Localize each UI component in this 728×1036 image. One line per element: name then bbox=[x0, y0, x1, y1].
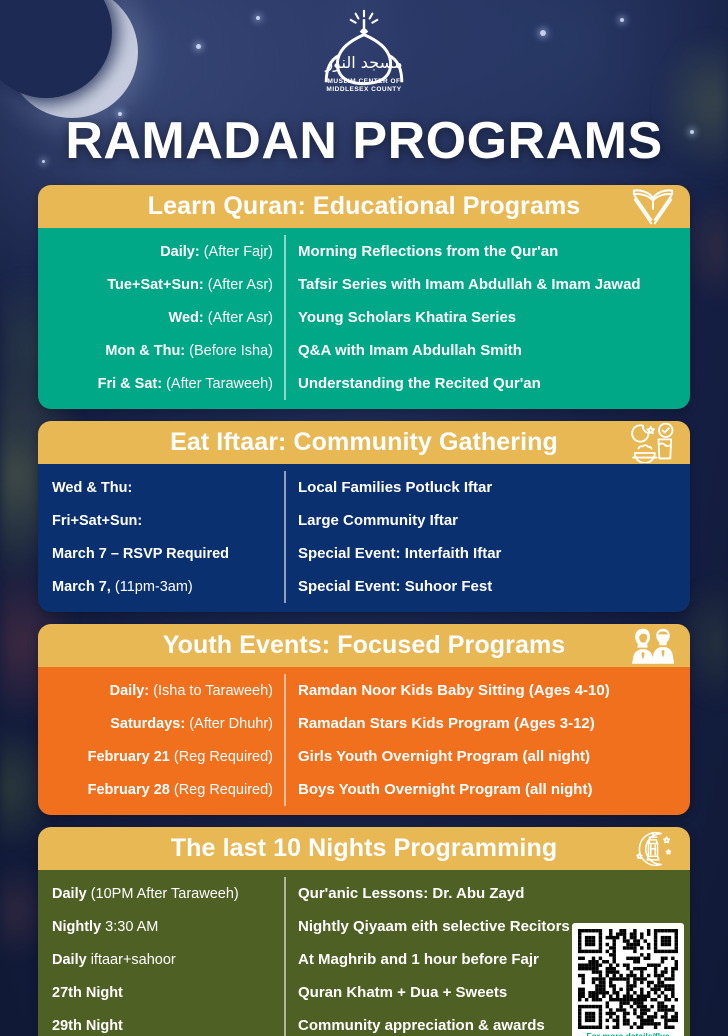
program-time-detail: (Reg Required) bbox=[174, 749, 273, 765]
program-row: Fri+Sat+Sun:Large Community Iftar bbox=[38, 504, 690, 537]
program-time-detail: (After Taraweeh) bbox=[166, 376, 273, 392]
section-last-10-nights: The last 10 Nights ProgrammingDaily (10P… bbox=[38, 827, 690, 1036]
logo-org-name: MUSLIM CENTER OF MIDDLESEX COUNTY bbox=[0, 78, 728, 96]
program-name-cell: Special Event: Suhoor Fest bbox=[286, 578, 690, 595]
lantern-crescent-icon bbox=[630, 829, 676, 869]
section-title: The last 10 Nights Programming bbox=[171, 834, 557, 863]
ramadan-programs-poster: مسجد النور MUSLIM CENTER OF MIDDLESEX CO… bbox=[0, 0, 728, 1036]
program-row: Wed: (After Asr)Young Scholars Khatira S… bbox=[38, 301, 690, 334]
program-time-cell: Wed: (After Asr) bbox=[38, 310, 284, 326]
program-name-cell: Tafsir Series with Imam Abdullah & Imam … bbox=[286, 276, 690, 293]
program-time-cell: Daily: (After Fajr) bbox=[38, 244, 284, 260]
qr-code-image[interactable] bbox=[578, 929, 678, 1029]
program-name-cell: Q&A with Imam Abdullah Smith bbox=[286, 342, 690, 359]
program-time-cell: Fri & Sat: (After Taraweeh) bbox=[38, 376, 284, 392]
section-title: Learn Quran: Educational Programs bbox=[148, 192, 581, 221]
section-body-eat-iftaar: Wed & Thu:Local Families Potluck IftarFr… bbox=[38, 464, 690, 612]
program-time-cell: Mon & Thu: (Before Isha) bbox=[38, 343, 284, 359]
program-row: February 28 (Reg Required)Boys Youth Ove… bbox=[38, 773, 690, 806]
program-time-detail: (Before Isha) bbox=[189, 343, 273, 359]
program-time-detail: iftaar+sahoor bbox=[91, 952, 176, 968]
program-time-cell: February 28 (Reg Required) bbox=[38, 782, 284, 798]
program-time-detail: 3:30 AM bbox=[105, 919, 158, 935]
program-time-cell: 27th Night bbox=[38, 985, 284, 1001]
section-eat-iftaar: Eat Iftaar: Community GatheringWed & Thu… bbox=[38, 421, 690, 612]
qr-caption: For more details/flye bbox=[578, 1029, 678, 1036]
program-time-cell: Fri+Sat+Sun: bbox=[38, 513, 284, 529]
program-row: March 7, (11pm-3am) Special Event: Suhoo… bbox=[38, 570, 690, 603]
program-time-detail: (Reg Required) bbox=[174, 782, 273, 798]
program-time-label: Mon & Thu: bbox=[105, 343, 185, 359]
qr-code-panel[interactable]: For more details/flye bbox=[572, 923, 684, 1036]
program-time-label: March 7, bbox=[52, 579, 111, 595]
section-learn-quran: Learn Quran: Educational ProgramsDaily: … bbox=[38, 185, 690, 409]
program-time-label: Saturdays: bbox=[110, 716, 185, 732]
program-name-cell: Boys Youth Overnight Program (all night) bbox=[286, 781, 690, 798]
program-time-detail: (After Dhuhr) bbox=[189, 716, 273, 732]
program-row: Daily: (Isha to Taraweeh)Ramdan Noor Kid… bbox=[38, 674, 690, 707]
program-time-cell: 29th Night bbox=[38, 1018, 284, 1034]
page-title: RAMADAN PROGRAMS bbox=[0, 111, 728, 171]
program-name-cell: Ramadan Stars Kids Program (Ages 3-12) bbox=[286, 715, 690, 732]
section-title: Eat Iftaar: Community Gathering bbox=[170, 428, 558, 457]
program-name-cell: Girls Youth Overnight Program (all night… bbox=[286, 748, 690, 765]
section-header-youth-events: Youth Events: Focused Programs bbox=[38, 624, 690, 667]
program-row: Daily: (After Fajr)Morning Reflections f… bbox=[38, 235, 690, 268]
program-sections: Learn Quran: Educational ProgramsDaily: … bbox=[0, 171, 728, 1036]
program-row: March 7 – RSVP RequiredSpecial Event: In… bbox=[38, 537, 690, 570]
program-time-cell: Daily iftaar+sahoor bbox=[38, 952, 284, 968]
program-row: Mon & Thu: (Before Isha)Q&A with Imam Ab… bbox=[38, 334, 690, 367]
program-time-label: Daily: bbox=[160, 244, 200, 260]
program-time-cell: Saturdays: (After Dhuhr) bbox=[38, 716, 284, 732]
program-name-cell: Understanding the Recited Qur'an bbox=[286, 375, 690, 392]
program-row: Wed & Thu:Local Families Potluck Iftar bbox=[38, 471, 690, 504]
program-time-cell: Daily (10PM After Taraweeh) bbox=[38, 886, 284, 902]
program-time-cell: March 7, (11pm-3am) bbox=[38, 579, 284, 595]
program-time-detail: (Isha to Taraweeh) bbox=[153, 683, 273, 699]
section-title: Youth Events: Focused Programs bbox=[163, 631, 566, 660]
program-time-cell: February 21 (Reg Required) bbox=[38, 749, 284, 765]
program-time-label: March 7 – RSVP Required bbox=[52, 546, 229, 562]
program-time-label: February 21 bbox=[88, 749, 170, 765]
youth-pair-icon bbox=[630, 626, 676, 666]
program-time-label: February 28 bbox=[88, 782, 170, 798]
logo-org-line-2: MIDDLESEX COUNTY bbox=[0, 86, 728, 95]
section-body-last-10-nights: Daily (10PM After Taraweeh)Qur'anic Less… bbox=[38, 870, 690, 1036]
program-name-cell: Large Community Iftar bbox=[286, 512, 690, 529]
program-time-label: Daily bbox=[52, 952, 87, 968]
program-time-label: Daily: bbox=[110, 683, 150, 699]
program-time-cell: Nightly 3:30 AM bbox=[38, 919, 284, 935]
iftar-meal-icon bbox=[630, 423, 676, 463]
program-time-detail: (After Asr) bbox=[208, 310, 273, 326]
section-header-last-10-nights: The last 10 Nights Programming bbox=[38, 827, 690, 870]
program-time-cell: March 7 – RSVP Required bbox=[38, 546, 284, 562]
section-body-learn-quran: Daily: (After Fajr)Morning Reflections f… bbox=[38, 228, 690, 409]
program-time-label: Tue+Sat+Sun: bbox=[107, 277, 203, 293]
program-time-detail: (After Fajr) bbox=[204, 244, 273, 260]
program-time-label: Fri+Sat+Sun: bbox=[52, 513, 142, 529]
section-header-learn-quran: Learn Quran: Educational Programs bbox=[38, 185, 690, 228]
program-time-cell: Tue+Sat+Sun: (After Asr) bbox=[38, 277, 284, 293]
logo-org-line-1: MUSLIM CENTER OF bbox=[0, 78, 728, 87]
program-row: Fri & Sat: (After Taraweeh)Understanding… bbox=[38, 367, 690, 400]
program-time-label: Fri & Sat: bbox=[98, 376, 162, 392]
section-youth-events: Youth Events: Focused ProgramsDaily: (Is… bbox=[38, 624, 690, 815]
poster-header: مسجد النور MUSLIM CENTER OF MIDDLESEX CO… bbox=[0, 0, 728, 171]
program-name-cell: Young Scholars Khatira Series bbox=[286, 309, 690, 326]
program-row: Daily (10PM After Taraweeh)Qur'anic Less… bbox=[38, 877, 690, 910]
program-name-cell: Qur'anic Lessons: Dr. Abu Zayd bbox=[286, 885, 690, 902]
program-time-cell: Daily: (Isha to Taraweeh) bbox=[38, 683, 284, 699]
open-book-icon bbox=[630, 187, 676, 227]
program-name-cell: Local Families Potluck Iftar bbox=[286, 479, 690, 496]
section-header-eat-iftaar: Eat Iftaar: Community Gathering bbox=[38, 421, 690, 464]
program-time-detail: (10PM After Taraweeh) bbox=[91, 886, 239, 902]
program-name-cell: Morning Reflections from the Qur'an bbox=[286, 243, 690, 260]
program-time-label: Wed: bbox=[169, 310, 204, 326]
program-time-detail: (After Asr) bbox=[208, 277, 273, 293]
program-time-cell: Wed & Thu: bbox=[38, 480, 284, 496]
program-row: Saturdays: (After Dhuhr)Ramadan Stars Ki… bbox=[38, 707, 690, 740]
program-time-label: Daily bbox=[52, 886, 87, 902]
program-row: Tue+Sat+Sun: (After Asr)Tafsir Series wi… bbox=[38, 268, 690, 301]
program-time-label: 29th Night bbox=[52, 1018, 123, 1034]
program-time-label: Nightly bbox=[52, 919, 101, 935]
section-body-youth-events: Daily: (Isha to Taraweeh)Ramdan Noor Kid… bbox=[38, 667, 690, 815]
program-name-cell: Special Event: Interfaith Iftar bbox=[286, 545, 690, 562]
program-name-cell: Ramdan Noor Kids Baby Sitting (Ages 4-10… bbox=[286, 682, 690, 699]
program-time-label: 27th Night bbox=[52, 985, 123, 1001]
logo-arabic-text: مسجد النور bbox=[324, 53, 402, 73]
program-time-detail: (11pm-3am) bbox=[115, 579, 193, 595]
program-time-label: Wed & Thu: bbox=[52, 480, 132, 496]
program-row: February 21 (Reg Required)Girls Youth Ov… bbox=[38, 740, 690, 773]
